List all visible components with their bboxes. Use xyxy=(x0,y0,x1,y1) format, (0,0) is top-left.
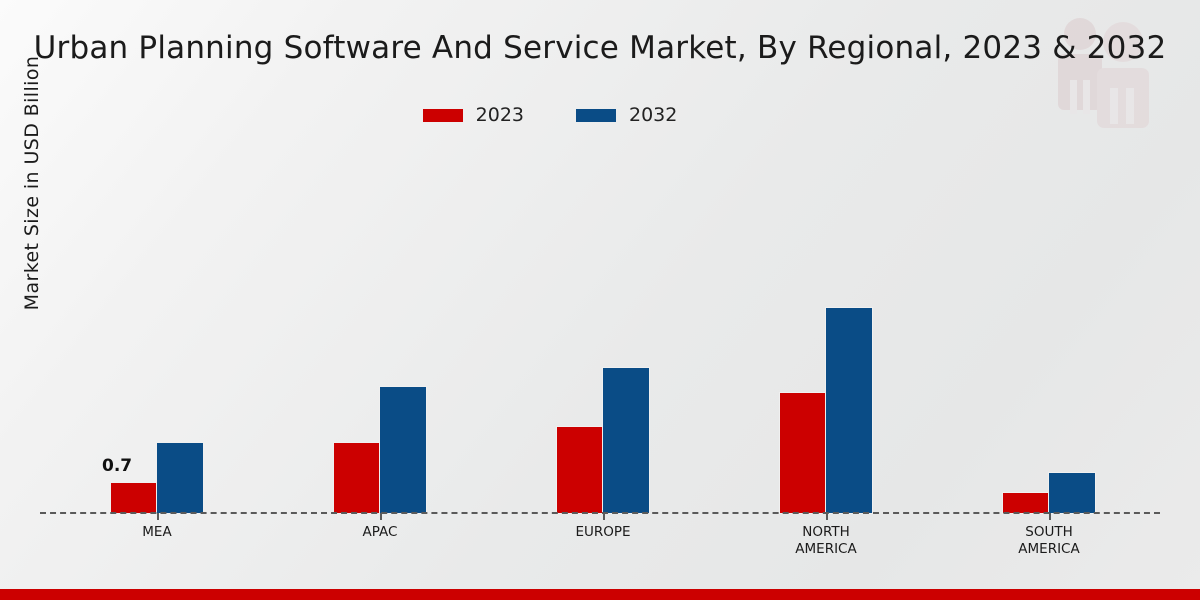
chart-legend: 2023 2032 xyxy=(0,104,1200,126)
x-axis-label-line: EUROPE xyxy=(503,524,703,541)
x-axis-label-line: NORTH xyxy=(726,524,926,541)
chart-canvas: Urban Planning Software And Service Mark… xyxy=(0,0,1200,600)
bar-2032-mea[interactable] xyxy=(157,443,203,513)
bar-2023-apac[interactable] xyxy=(334,443,380,513)
bar-2023-mea[interactable] xyxy=(111,483,157,513)
bars xyxy=(334,387,426,513)
bars xyxy=(1003,473,1095,513)
bar-group-south-america xyxy=(1003,150,1095,513)
x-axis-label-line: MEA xyxy=(57,524,257,541)
x-tick-apac xyxy=(380,513,382,520)
bar-group-north-america xyxy=(780,150,872,513)
x-axis-baseline xyxy=(40,512,1160,514)
bar-2032-south-america[interactable] xyxy=(1049,473,1095,513)
bar-2032-europe[interactable] xyxy=(603,368,649,513)
legend-swatch-2023 xyxy=(423,109,463,122)
legend-item-2023[interactable]: 2023 xyxy=(423,104,524,126)
x-axis-label-north-america: NORTHAMERICA xyxy=(726,524,926,558)
legend-item-2032[interactable]: 2032 xyxy=(576,104,677,126)
bar-group-apac xyxy=(334,150,426,513)
x-tick-north-america xyxy=(826,513,828,520)
data-label-mea-2023: 0.7 xyxy=(102,456,132,476)
x-axis-label-apac: APAC xyxy=(280,524,480,541)
legend-label-2023: 2023 xyxy=(476,104,524,126)
x-tick-mea xyxy=(157,513,159,520)
bar-2032-apac[interactable] xyxy=(380,387,426,513)
x-axis-label-mea: MEA xyxy=(57,524,257,541)
bar-group-europe xyxy=(557,150,649,513)
bars xyxy=(557,368,649,513)
legend-swatch-2032 xyxy=(576,109,616,122)
footer-accent-bar xyxy=(0,589,1200,600)
plot-area xyxy=(40,150,1160,513)
bar-2023-south-america[interactable] xyxy=(1003,493,1049,513)
x-axis-label-line: APAC xyxy=(280,524,480,541)
bars xyxy=(111,443,203,513)
x-axis-label-europe: EUROPE xyxy=(503,524,703,541)
x-tick-europe xyxy=(603,513,605,520)
x-axis-label-line: AMERICA xyxy=(726,541,926,558)
x-axis-label-line: SOUTH xyxy=(949,524,1149,541)
bars xyxy=(780,308,872,513)
x-axis-label-south-america: SOUTHAMERICA xyxy=(949,524,1149,558)
bar-2032-north-america[interactable] xyxy=(826,308,872,513)
legend-label-2032: 2032 xyxy=(629,104,677,126)
x-tick-south-america xyxy=(1049,513,1051,520)
bar-2023-north-america[interactable] xyxy=(780,393,826,513)
page-title: Urban Planning Software And Service Mark… xyxy=(0,30,1200,66)
x-axis-label-line: AMERICA xyxy=(949,541,1149,558)
bar-2023-europe[interactable] xyxy=(557,427,603,513)
